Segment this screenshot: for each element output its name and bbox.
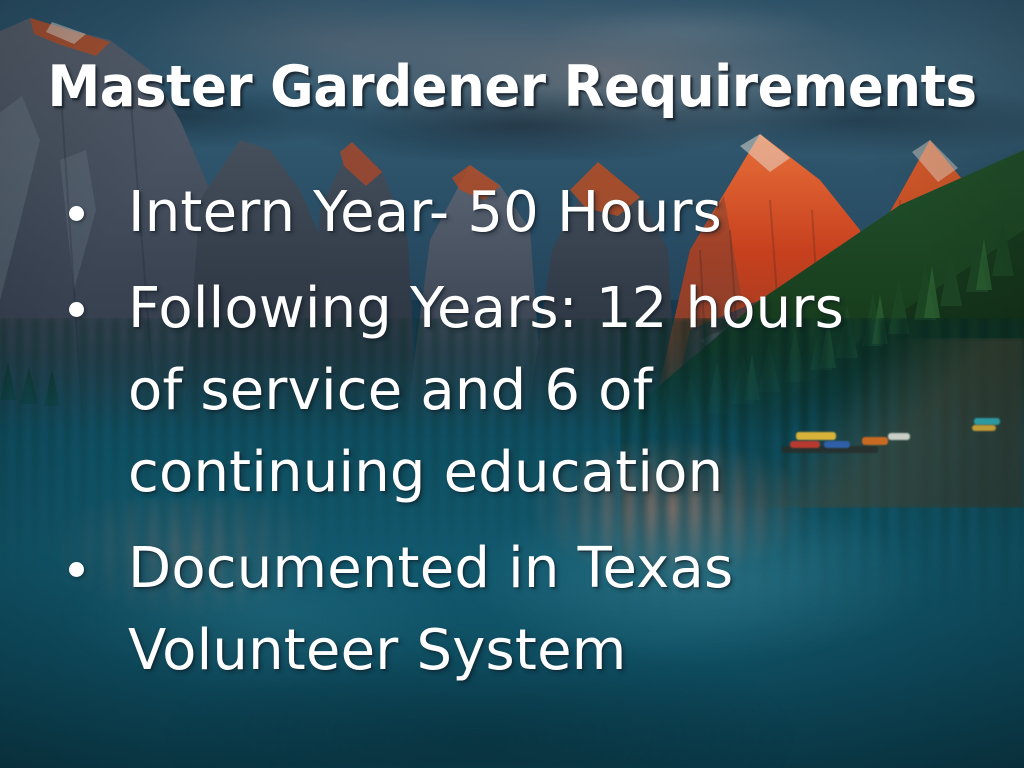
bullet-item: Following Years: 12 hoursof service and … [60,268,960,514]
slide-content: Master Gardener Requirements Intern Year… [0,0,1024,768]
bullet-item: Documented in TexasVolunteer System [60,528,960,692]
bullet-line: Following Years: 12 hours [128,268,960,350]
bullet-line: Intern Year- 50 Hours [128,172,960,254]
bullet-dot-icon [69,206,84,221]
bullet-line: Volunteer System [128,610,960,692]
bullet-line: Documented in Texas [128,528,960,610]
bullet-text: Intern Year- 50 Hours [128,172,960,254]
bullet-line: of service and 6 of [128,350,960,432]
bullet-text: Documented in TexasVolunteer System [128,528,960,692]
bullet-item: Intern Year- 50 Hours [60,172,960,254]
slide-title: Master Gardener Requirements [36,55,988,119]
bullet-text: Following Years: 12 hoursof service and … [128,268,960,514]
presentation-slide: Master Gardener Requirements Intern Year… [0,0,1024,768]
bullet-dot-icon [69,302,84,317]
bullet-dot-icon [69,562,84,577]
bullet-list: Intern Year- 50 HoursFollowing Years: 12… [60,172,960,706]
bullet-line: continuing education [128,432,960,514]
